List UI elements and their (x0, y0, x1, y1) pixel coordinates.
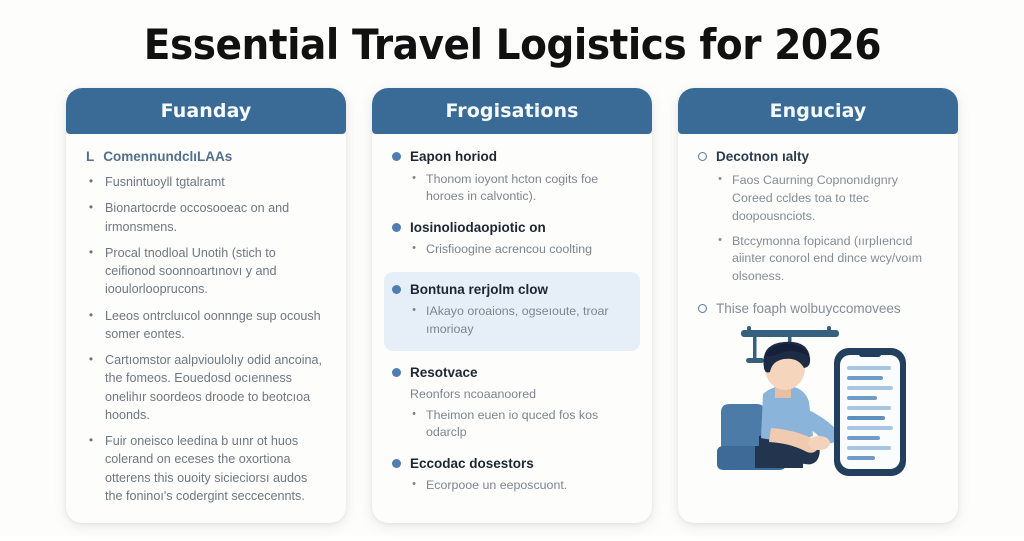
illustration-svg (711, 324, 926, 489)
group-block: Eccodac dosestors • Ecorpooe un eeposcuo… (392, 455, 632, 495)
bullet-icon: • (410, 241, 418, 259)
column-card-3: Enguciay Decotnon ıalty • Faos Caurning … (678, 88, 958, 523)
group-note: Reonfors ncoaanoored (410, 386, 632, 403)
list-item: • Cartıomstor aalpvioulolıy odid ancoina… (86, 351, 326, 424)
bullet-icon: • (410, 477, 418, 495)
columns-container: Fuanday L ComennundclıLAAs • Fusnintuoyl… (0, 88, 1024, 541)
hollow-circle-icon (698, 304, 707, 313)
column-body-1: L ComennundclıLAAs • Fusnintuoyll tgtalr… (66, 134, 346, 523)
column-header-label-2: Frogisations (445, 100, 578, 122)
title-bar: Essential Travel Logistics for 2026 (0, 0, 1024, 88)
list-item: • Fuir oneisco leedina b uınr ot huos co… (86, 432, 326, 505)
bullet-icon: • (410, 171, 418, 206)
list-item-text: Cartıomstor aalpvioulolıy odid ancoina, … (105, 351, 326, 424)
group-block: Resotvace Reonfors ncoaanoored • Theimon… (392, 364, 632, 442)
list-heading: L ComennundclıLAAs (86, 148, 326, 166)
filled-dot-icon (392, 285, 401, 294)
bullet-icon: • (86, 199, 96, 236)
column-card-2: Frogisations Eapon horiod • Thonom ioyon… (372, 88, 652, 523)
list-item-text: Fusnintuoyll tgtalramt (105, 173, 326, 191)
sub-item: • Thonom ioyont hcton cogits foe horoes … (410, 171, 632, 206)
heading-marker: L (86, 148, 94, 166)
column-body-3: Decotnon ıalty • Faos Caurning Copnonıdı… (678, 134, 958, 523)
group-heading-label: Decotnon ıalty (716, 148, 809, 166)
group-heading-label: Bontuna rerjolm clow (410, 281, 548, 299)
list-item: • Bionartocrde occosooeac on and irmonsm… (86, 199, 326, 236)
group-heading: Eapon horiod (392, 148, 632, 166)
sub-item: • Btccymonna fopicand (ıırplıencıd aiint… (716, 233, 938, 287)
group-heading: Thise foaph wolbuyccomovees (698, 300, 938, 318)
sub-item-text: Ecorpooe un eeposcuont. (426, 477, 567, 495)
sub-item-text: Crisfioogine acrencou coolting (426, 241, 592, 259)
list-item-text: Fuir oneisco leedina b uınr ot huos cole… (105, 432, 326, 505)
list-item-text: Leeos ontrcluıcol oonnnge sup ocoush som… (105, 307, 326, 344)
person-using-phone-illustration (698, 324, 938, 489)
group-block: Eapon horiod • Thonom ioyont hcton cogit… (392, 148, 632, 206)
filled-dot-icon (392, 459, 401, 468)
column-header-label-1: Fuanday (161, 100, 252, 122)
sub-item-text: Thonom ioyont hcton cogits foe horoes in… (426, 171, 632, 206)
heading-label: ComennundclıLAAs (103, 148, 232, 166)
list-item: • Fusnintuoyll tgtalramt (86, 173, 326, 191)
sub-item: • Crisfioogine acrencou coolting (410, 241, 632, 259)
column-card-1: Fuanday L ComennundclıLAAs • Fusnintuoyl… (66, 88, 346, 523)
sub-item: • Ecorpooe un eeposcuont. (410, 477, 632, 495)
bullet-icon: • (86, 307, 96, 344)
column-header-1: Fuanday (66, 88, 346, 134)
sub-item-text: Btccymonna fopicand (ıırplıencıd aiinter… (732, 233, 938, 287)
bullet-icon: • (716, 172, 724, 226)
sub-item-text: IAkayo oroaions, ogseıoute, troar ımorio… (426, 303, 630, 338)
group-heading-label: Iosinoliodaopiotic on (410, 219, 546, 237)
column-header-3: Enguciay (678, 88, 958, 134)
highlighted-group-block: Bontuna rerjolm clow • IAkayo oroaions, … (384, 272, 640, 351)
bullet-icon: • (86, 244, 96, 299)
sub-item-text: Faos Caurning Copnonıdıgnry Coreed cclde… (732, 172, 938, 226)
filled-dot-icon (392, 152, 401, 161)
bullet-icon: • (86, 173, 96, 191)
sub-item: • IAkayo oroaions, ogseıoute, troar ımor… (410, 303, 630, 338)
group-block: Iosinoliodaopiotic on • Crisfioogine acr… (392, 219, 632, 259)
bullet-icon: • (410, 407, 418, 442)
sub-item: • Faos Caurning Copnonıdıgnry Coreed ccl… (716, 172, 938, 226)
bullet-icon: • (86, 351, 96, 424)
sub-item-text: Theimon euen io quced fos kos odarclp (426, 407, 632, 442)
bullet-icon: • (86, 432, 96, 505)
group-heading-label: Eapon horiod (410, 148, 497, 166)
hollow-circle-icon (698, 152, 707, 161)
group-heading-label: Resotvace (410, 364, 478, 382)
page-title: Essential Travel Logistics for 2026 (143, 20, 880, 69)
group-heading: Eccodac dosestors (392, 455, 632, 473)
column-body-2: Eapon horiod • Thonom ioyont hcton cogit… (372, 134, 652, 523)
bullet-icon: • (410, 303, 418, 338)
filled-dot-icon (392, 223, 401, 232)
group-heading: Iosinoliodaopiotic on (392, 219, 632, 237)
filled-dot-icon (392, 368, 401, 377)
group-heading: Bontuna rerjolm clow (392, 281, 630, 299)
list-item: • Leeos ontrcluıcol oonnnge sup ocoush s… (86, 307, 326, 344)
sub-item: • Theimon euen io quced fos kos odarclp (410, 407, 632, 442)
group-heading-label: Eccodac dosestors (410, 455, 534, 473)
list-item-text: Bionartocrde occosooeac on and irmonsmen… (105, 199, 326, 236)
group-heading-label: Thise foaph wolbuyccomovees (716, 300, 901, 318)
infographic-page: Essential Travel Logistics for 2026 Fuan… (0, 0, 1024, 536)
list-item: • Procal tnodloal Unotih (stich to ceifi… (86, 244, 326, 299)
list-item-text: Procal tnodloal Unotih (stich to ceifion… (105, 244, 326, 299)
group-heading: Resotvace (392, 364, 632, 382)
column-header-label-3: Enguciay (770, 100, 867, 122)
group-heading: Decotnon ıalty (698, 148, 938, 166)
column-header-2: Frogisations (372, 88, 652, 134)
bullet-icon: • (716, 233, 724, 287)
